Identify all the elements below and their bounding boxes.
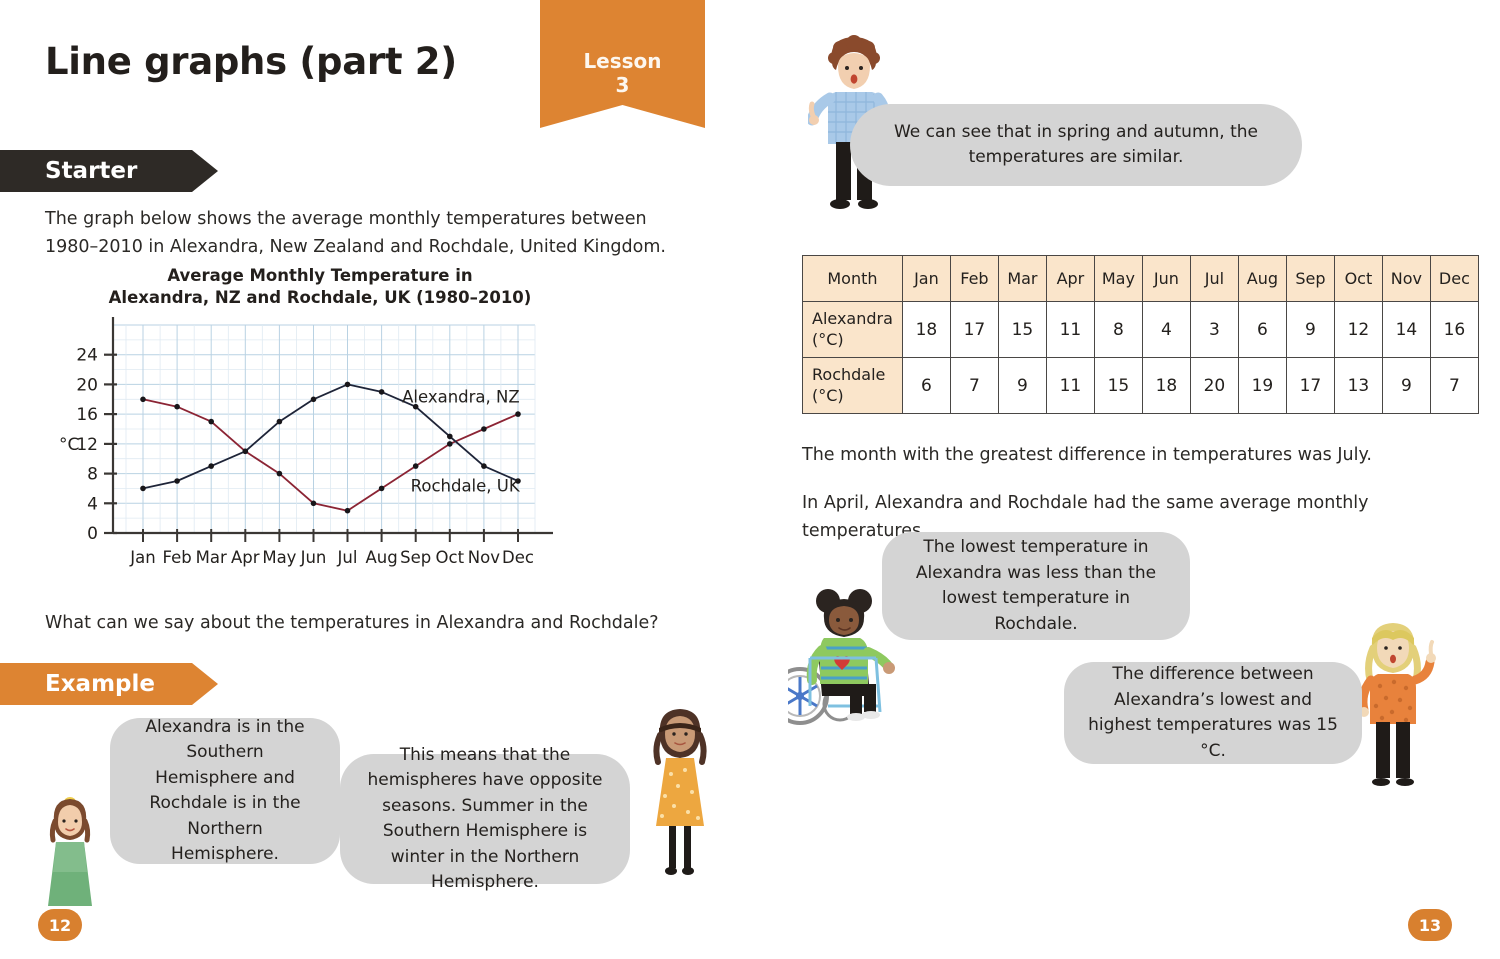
speech-bubble-southern-hemisphere: Alexandra is in the Southern Hemisphere … — [110, 718, 340, 864]
character-girl-orange-dress — [640, 700, 720, 880]
chart-y-axis-title: °C — [59, 435, 79, 455]
table-cell: 6 — [902, 358, 950, 414]
svg-text:Aug: Aug — [365, 548, 397, 567]
right-page: We can see that in spring and autumn, th… — [750, 0, 1500, 959]
svg-text:Apr: Apr — [231, 548, 260, 567]
svg-text:Oct: Oct — [436, 548, 465, 567]
table-header-month: Month — [803, 256, 903, 302]
table-row: Alexandra(°C)1817151184369121416 — [803, 302, 1479, 358]
banner-example: Example — [0, 663, 218, 705]
table-cell: 14 — [1382, 302, 1430, 358]
table-cell: 4 — [1142, 302, 1190, 358]
table-cell: 8 — [1094, 302, 1142, 358]
banner-starter: Starter — [0, 150, 218, 192]
svg-text:12: 12 — [76, 435, 98, 455]
chart-canvas: 04812162024°CJanFebMarAprMayJunJulAugSep… — [45, 265, 605, 595]
table-header-jul: Jul — [1190, 256, 1238, 302]
table-cell: 19 — [1238, 358, 1286, 414]
svg-text:Dec: Dec — [502, 548, 534, 567]
table-header-row: MonthJanFebMarAprMayJunJulAugSepOctNovDe… — [803, 256, 1479, 302]
lesson-flag-number: 3 — [540, 74, 705, 98]
table-cell: 11 — [1046, 302, 1094, 358]
lesson-flag-label: Lesson — [540, 50, 705, 74]
left-page: Line graphs (part 2) Lesson 3 Starter Th… — [0, 0, 750, 959]
table-cell: 18 — [1142, 358, 1190, 414]
table-header-jun: Jun — [1142, 256, 1190, 302]
table-cell: 17 — [950, 302, 998, 358]
textbook-spread: Line graphs (part 2) Lesson 3 Starter Th… — [0, 0, 1500, 959]
table-cell: 6 — [1238, 302, 1286, 358]
chart-series-label: Rochdale, UK — [411, 476, 521, 495]
table-cell: 9 — [1382, 358, 1430, 414]
table-cell: 16 — [1430, 302, 1478, 358]
chart-y-axis-labels: 04812162024 — [76, 346, 117, 544]
table-cell: 15 — [998, 302, 1046, 358]
speech-bubble-difference: The difference between Alexandra’s lowes… — [1064, 662, 1362, 764]
table-header-dec: Dec — [1430, 256, 1478, 302]
table-header-mar: Mar — [998, 256, 1046, 302]
speech-bubble-spring-autumn: We can see that in spring and autumn, th… — [850, 104, 1302, 186]
chart-axes — [113, 317, 553, 533]
paragraph-greatest-difference: The month with the greatest difference i… — [802, 441, 1462, 469]
svg-text:Mar: Mar — [196, 548, 227, 567]
table-cell: 20 — [1190, 358, 1238, 414]
svg-text:4: 4 — [87, 494, 98, 514]
table-cell: 7 — [950, 358, 998, 414]
table-row-label: Alexandra(°C) — [803, 302, 903, 358]
svg-text:Jun: Jun — [300, 548, 327, 567]
table-cell: 11 — [1046, 358, 1094, 414]
svg-text:20: 20 — [76, 375, 98, 395]
table-header-apr: Apr — [1046, 256, 1094, 302]
svg-text:Nov: Nov — [468, 548, 500, 567]
svg-text:0: 0 — [87, 524, 98, 544]
table-row: Rochdale(°C)6791115182019171397 — [803, 358, 1479, 414]
svg-text:16: 16 — [76, 405, 98, 425]
svg-text:Sep: Sep — [400, 548, 431, 567]
table-cell: 9 — [1286, 302, 1334, 358]
line-chart: Average Monthly Temperature in Alexandra… — [45, 265, 605, 595]
svg-text:May: May — [262, 548, 296, 567]
svg-text:Feb: Feb — [162, 548, 191, 567]
table-header-aug: Aug — [1238, 256, 1286, 302]
temperature-table: MonthJanFebMarAprMayJunJulAugSepOctNovDe… — [802, 255, 1479, 414]
table-cell: 15 — [1094, 358, 1142, 414]
table-header-jan: Jan — [902, 256, 950, 302]
lesson-flag: Lesson 3 — [540, 0, 705, 128]
table-cell: 3 — [1190, 302, 1238, 358]
page-number-left: 12 — [38, 909, 82, 941]
table-header-may: May — [1094, 256, 1142, 302]
chart-gridlines — [113, 325, 535, 533]
chart-series-label: Alexandra, NZ — [402, 387, 520, 406]
question-paragraph: What can we say about the temperatures i… — [45, 609, 705, 637]
page-title: Line graphs (part 2) — [45, 40, 457, 83]
table-cell: 12 — [1334, 302, 1382, 358]
table-cell: 9 — [998, 358, 1046, 414]
svg-text:24: 24 — [76, 346, 98, 366]
speech-bubble-lowest-temperature: The lowest temperature in Alexandra was … — [882, 532, 1190, 640]
table-header-sep: Sep — [1286, 256, 1334, 302]
table-cell: 17 — [1286, 358, 1334, 414]
chart-x-axis-labels: JanFebMarAprMayJunJulAugSepOctNovDec — [129, 529, 534, 567]
character-girl-green — [34, 780, 106, 910]
table-header-feb: Feb — [950, 256, 998, 302]
table-cell: 7 — [1430, 358, 1478, 414]
speech-bubble-hemispheres-seasons: This means that the hemispheres have opp… — [340, 754, 630, 884]
table-header-nov: Nov — [1382, 256, 1430, 302]
table-cell: 18 — [902, 302, 950, 358]
page-number-right: 13 — [1408, 909, 1452, 941]
intro-paragraph: The graph below shows the average monthl… — [45, 205, 705, 262]
table-header-oct: Oct — [1334, 256, 1382, 302]
table-cell: 13 — [1334, 358, 1382, 414]
table-row-label: Rochdale(°C) — [803, 358, 903, 414]
svg-text:Jul: Jul — [337, 548, 358, 567]
svg-text:Jan: Jan — [129, 548, 155, 567]
svg-text:8: 8 — [87, 465, 98, 485]
